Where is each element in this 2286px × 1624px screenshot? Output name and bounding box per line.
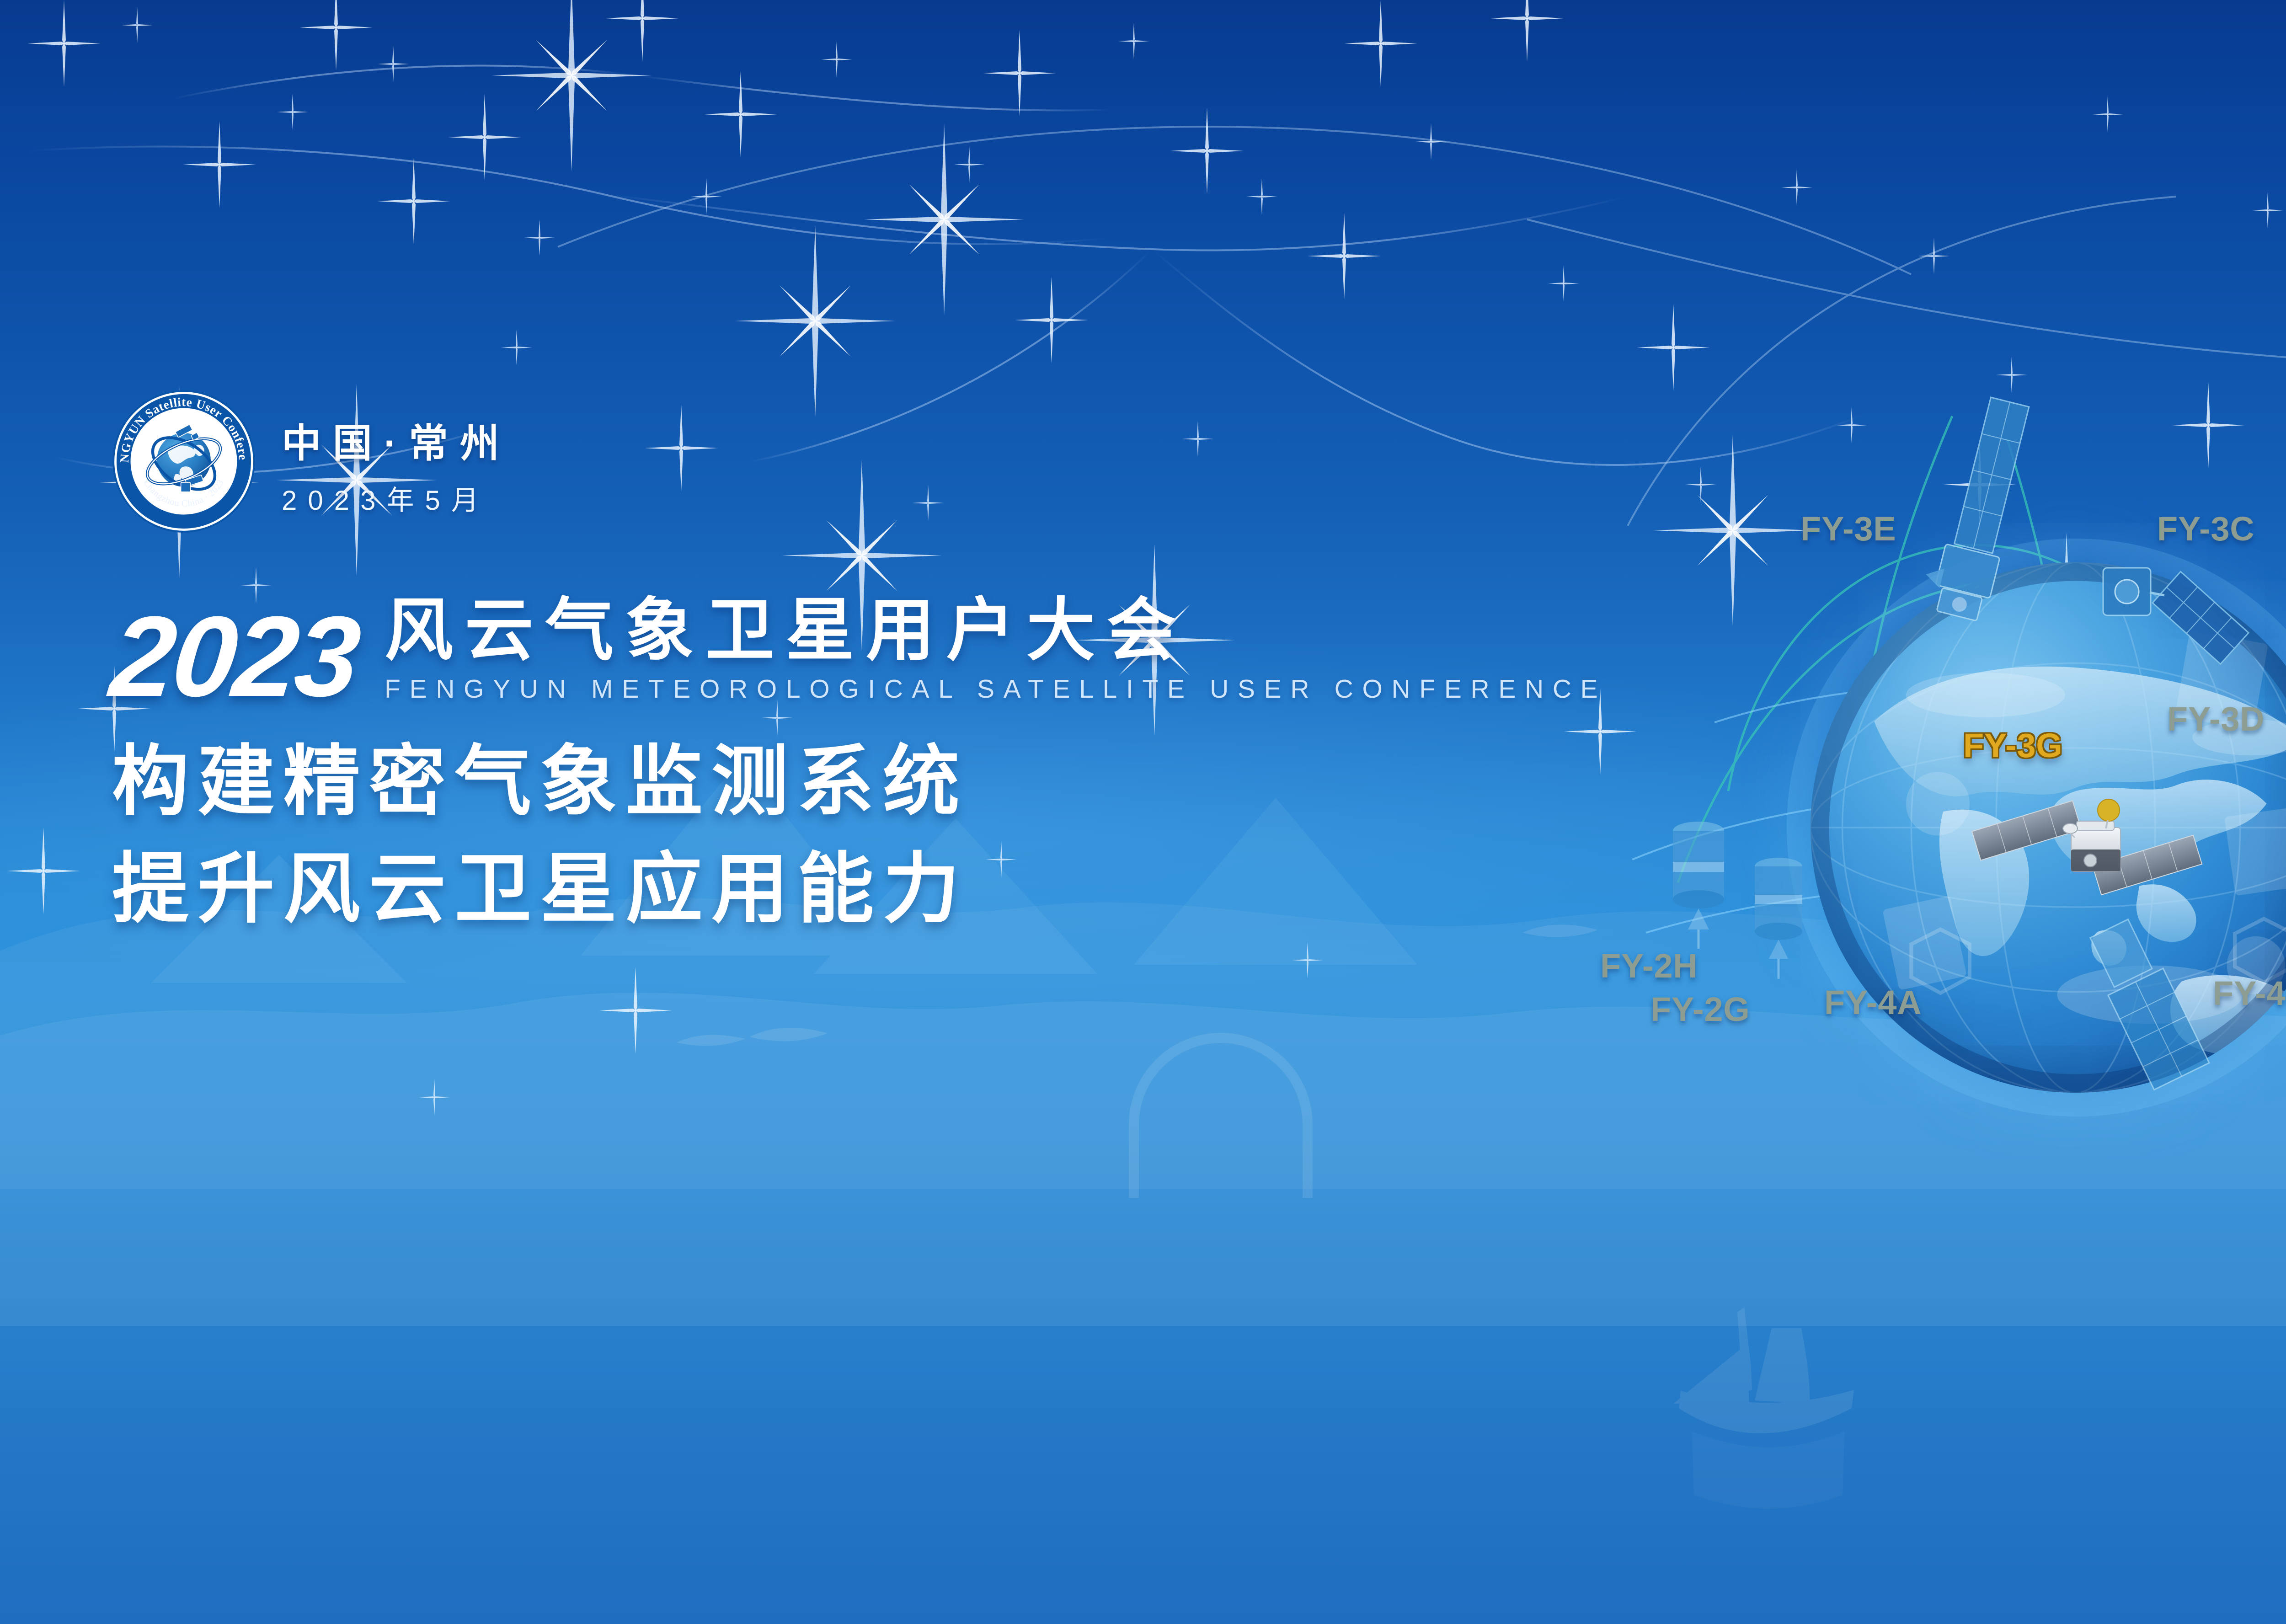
satellite-label-fy-3g: FY-3G	[1963, 726, 2063, 765]
slogan-line-1: 构建精密气象监测系统	[112, 728, 1712, 835]
slogan-block: 构建精密气象监测系统 提升风云卫星应用能力	[112, 728, 1712, 943]
year-label: 2023	[107, 606, 362, 707]
satellite-label-fy-3e: FY-3E	[1800, 509, 1896, 548]
conference-title-en: FENGYUN METEOROLOGICAL SATELLITE USER CO…	[385, 674, 1607, 704]
satellite-label-fy-2h: FY-2H	[1600, 946, 1698, 985]
headline-block: 2023 风云气象卫星用户大会 FENGYUN METEOROLOGICAL S…	[112, 594, 1712, 943]
satellite-fy-3g-icon	[1957, 777, 2213, 914]
satellite-label-fy-3d: FY-3D	[2167, 700, 2265, 738]
header-block: FENGYUN Satellite User Conference Changz…	[111, 389, 511, 534]
date-label: 2023年5月	[282, 478, 511, 518]
satellite-label-fy-3c: FY-3C	[2157, 509, 2254, 548]
satellite-label-fy-2g: FY-2G	[1650, 990, 1750, 1029]
conference-poster: FENGYUN Satellite User Conference Changz…	[0, 0, 2286, 1624]
satellite-fy-2g-icon	[1733, 844, 1824, 990]
header-text-block: 中国·常州 2023年5月	[282, 405, 511, 518]
satellite-label-fy-4b: FY-4B	[2213, 974, 2286, 1013]
slogan-line-2: 提升风云卫星应用能力	[112, 835, 1712, 943]
satellite-fy-3e-icon	[1902, 393, 2053, 649]
conference-seal-logo: FENGYUN Satellite User Conference Changz…	[111, 389, 256, 534]
conference-title-cn: 风云气象卫星用户大会	[385, 594, 1607, 666]
satellite-label-fy-4a: FY-4A	[1824, 983, 1922, 1022]
title-text-group: 风云气象卫星用户大会 FENGYUN METEOROLOGICAL SATELL…	[385, 594, 1607, 707]
satellite-fy-3c-icon	[2095, 542, 2246, 679]
title-row: 2023 风云气象卫星用户大会 FENGYUN METEOROLOGICAL S…	[112, 594, 1712, 707]
city-label: 中国·常州	[282, 411, 511, 468]
